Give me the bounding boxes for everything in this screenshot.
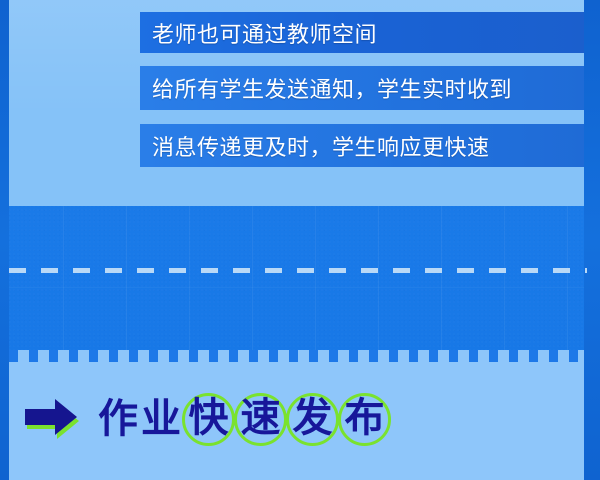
headline-circled-glyph-2: 速 [234, 393, 287, 446]
caption-bar-1-text: 老师也可通过教师空间 [152, 17, 377, 49]
poster-canvas: 老师也可通过教师空间 给所有学生发送通知，学生实时收到 消息传递更及时，学生响应… [0, 0, 600, 480]
headline-glyph-2: 业 [140, 399, 182, 439]
caption-bar-1: 老师也可通过教师空间 [140, 12, 584, 53]
headline-circled-glyph-4: 布 [338, 393, 391, 446]
dashed-separator [9, 268, 587, 273]
caption-bar-2-text: 给所有学生发送通知，学生实时收到 [152, 72, 512, 104]
headline-row: 作 业 快 速 发 布 [9, 388, 390, 450]
headline-circled-glyph-1: 快 [182, 393, 235, 446]
headline-circled-glyph-2-text: 速 [241, 398, 281, 438]
caption-bar-3-text: 消息传递更及时，学生响应更快速 [152, 130, 490, 162]
left-edge-rail [0, 0, 9, 480]
right-edge-rail [584, 0, 600, 480]
headline-circled-glyph-3: 发 [286, 393, 339, 446]
headline-circled-glyph-1-text: 快 [189, 398, 229, 438]
headline-circled-glyph-3-text: 发 [293, 398, 333, 438]
headline-text: 作 业 快 速 发 布 [97, 393, 390, 446]
caption-bar-2: 给所有学生发送通知，学生实时收到 [140, 66, 584, 110]
headline-glyph-1: 作 [97, 399, 139, 439]
caption-bar-3: 消息传递更及时，学生响应更快速 [140, 124, 584, 167]
square-dotted-border [9, 350, 584, 362]
headline-circled-glyph-4-text: 布 [345, 398, 385, 438]
right-arrow-icon [21, 397, 83, 441]
